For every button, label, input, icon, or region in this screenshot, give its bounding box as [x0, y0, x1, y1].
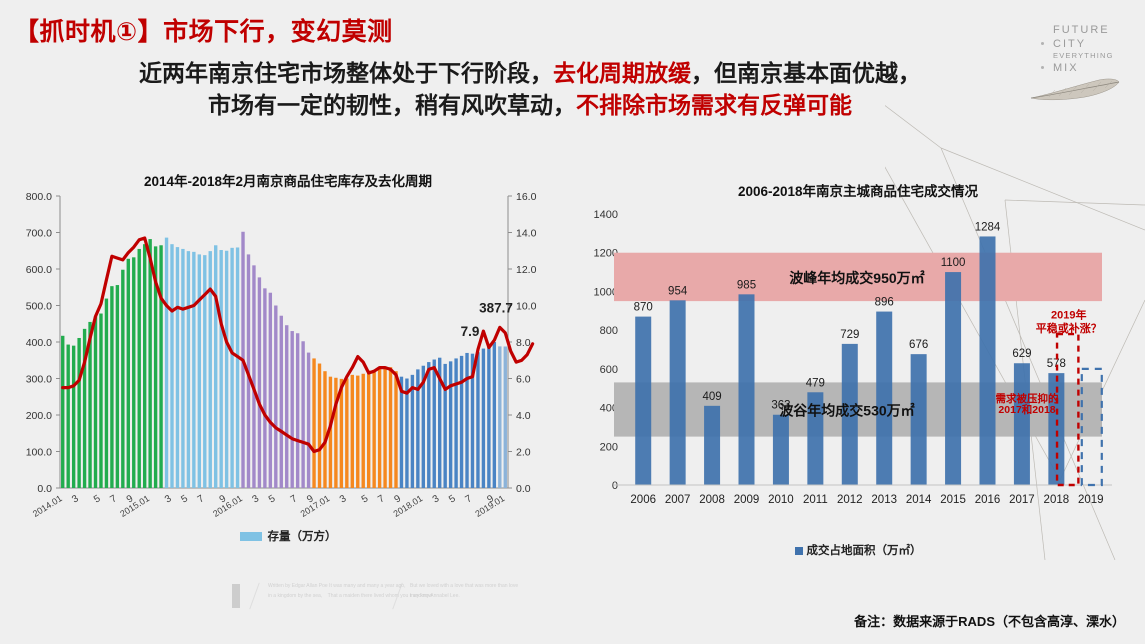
- svg-text:波谷年均成交530万㎡: 波谷年均成交530万㎡: [779, 403, 914, 419]
- svg-text:1400: 1400: [594, 209, 618, 221]
- svg-text:985: 985: [737, 279, 756, 291]
- svg-text:14.0: 14.0: [516, 228, 537, 240]
- brand-line-3: EVERYTHING: [1053, 51, 1114, 60]
- subtitle: 近两年南京住宅市场整体处于下行阶段，去化周期放缓，但南京基本面优越， 市场有一定…: [0, 58, 1060, 121]
- svg-text:2019: 2019: [1078, 494, 1104, 506]
- svg-text:16.0: 16.0: [516, 191, 537, 203]
- svg-text:5: 5: [92, 493, 103, 506]
- page-title: 【抓时机①】市场下行，变幻莫测: [14, 12, 393, 48]
- svg-text:平稳或补涨？: 平稳或补涨？: [1036, 321, 1102, 335]
- svg-text:600: 600: [600, 364, 618, 376]
- svg-text:0.0: 0.0: [516, 483, 531, 495]
- svg-text:363: 363: [771, 400, 790, 412]
- svg-text:5: 5: [360, 493, 371, 506]
- svg-text:3: 3: [431, 493, 442, 506]
- svg-text:2011: 2011: [803, 494, 828, 506]
- inventory-chart-plot: 0.0100.0200.0300.0400.0500.0600.0700.080…: [8, 188, 568, 538]
- svg-text:3: 3: [70, 493, 81, 506]
- svg-text:7: 7: [289, 493, 300, 506]
- svg-text:2018: 2018: [1044, 494, 1070, 506]
- subtitle-text-2a: 市场有一定的韧性，稍有风吹草动，: [208, 92, 576, 118]
- svg-text:100.0: 100.0: [26, 447, 52, 459]
- svg-text:2015: 2015: [940, 494, 966, 506]
- slide: 【抓时机①】市场下行，变幻莫测 近两年南京住宅市场整体处于下行阶段，去化周期放缓…: [0, 0, 1145, 644]
- svg-text:1284: 1284: [975, 221, 1001, 233]
- brand-dot-icon: [1041, 66, 1044, 69]
- svg-text:7: 7: [464, 493, 475, 506]
- svg-text:3: 3: [338, 493, 349, 506]
- inventory-chart-legend: 存量（万方）: [8, 528, 568, 544]
- transactions-chart: 2006-2018年南京主城商品住宅成交情况 02004006008001000…: [578, 180, 1138, 565]
- svg-text:0.0: 0.0: [37, 483, 52, 495]
- svg-text:2.0: 2.0: [516, 447, 531, 459]
- source-note: 备注：数据来源于RADS（不包含高淳、溧水）: [854, 611, 1125, 630]
- svg-text:2015.01: 2015.01: [118, 493, 151, 519]
- brand-dot-icon: [1041, 42, 1044, 45]
- svg-text:需求被压抑的: 需求被压抑的: [996, 392, 1059, 405]
- svg-text:2014.01: 2014.01: [31, 493, 64, 519]
- svg-text:2014: 2014: [906, 494, 932, 506]
- svg-text:2007: 2007: [665, 494, 691, 506]
- svg-text:676: 676: [909, 339, 928, 351]
- quote-divider: [249, 583, 260, 610]
- quote-bar: [232, 584, 240, 608]
- svg-text:2016: 2016: [975, 494, 1001, 506]
- svg-text:870: 870: [634, 302, 653, 314]
- svg-text:387.7: 387.7: [479, 300, 513, 315]
- svg-text:2017: 2017: [1009, 494, 1035, 506]
- brand-line-1: FUTURE: [1053, 24, 1110, 36]
- svg-text:2009: 2009: [734, 494, 760, 506]
- svg-text:409: 409: [702, 391, 721, 403]
- svg-text:400.0: 400.0: [26, 337, 52, 349]
- svg-text:5: 5: [179, 493, 190, 506]
- svg-text:2008: 2008: [699, 494, 725, 506]
- svg-text:600.0: 600.0: [26, 264, 52, 276]
- inventory-chart-title: 2014年-2018年2月南京商品住宅库存及去化周期: [8, 170, 568, 190]
- svg-text:12.0: 12.0: [516, 264, 537, 276]
- subtitle-text-1b: ，但南京基本面优越，: [691, 60, 921, 86]
- svg-text:2019年: 2019年: [1051, 308, 1086, 322]
- quote-text-1: Written by Edgar Allan Poe It was many a…: [268, 582, 432, 601]
- brand-line-2: CITY: [1053, 38, 1086, 50]
- svg-text:2017和2018: 2017和2018: [998, 403, 1055, 416]
- svg-text:479: 479: [806, 377, 825, 389]
- subtitle-highlight-2: 不排除市场需求有反弹可能: [576, 92, 852, 118]
- svg-text:2012: 2012: [837, 494, 863, 506]
- svg-text:2013: 2013: [871, 494, 897, 506]
- svg-text:800: 800: [600, 325, 618, 337]
- legend-swatch-icon: [795, 547, 803, 555]
- transactions-chart-title: 2006-2018年南京主城商品住宅成交情况: [578, 180, 1138, 200]
- svg-text:3: 3: [163, 493, 174, 506]
- inventory-chart: 2014年-2018年2月南京商品住宅库存及去化周期 0.0100.0200.0…: [8, 170, 568, 560]
- svg-text:2010: 2010: [768, 494, 794, 506]
- svg-text:8.0: 8.0: [516, 337, 531, 349]
- svg-text:7.9: 7.9: [461, 324, 480, 339]
- svg-text:2017.01: 2017.01: [299, 493, 332, 519]
- brand-logo: FUTURE CITY EVERYTHING MIX: [1025, 24, 1125, 96]
- feather-icon: [1029, 76, 1121, 102]
- svg-text:954: 954: [668, 285, 688, 297]
- svg-text:7: 7: [376, 493, 387, 506]
- decorative-quote-watermark: Written by Edgar Allan Poe It was many a…: [232, 580, 632, 616]
- subtitle-highlight-1: 去化周期放缓: [553, 60, 691, 86]
- legend-label: 存量（万方）: [268, 531, 337, 543]
- subtitle-text-1a: 近两年南京住宅市场整体处于下行阶段，: [139, 60, 553, 86]
- svg-text:10.0: 10.0: [516, 301, 537, 313]
- brand-line-4: MIX: [1053, 62, 1079, 74]
- svg-text:500.0: 500.0: [26, 301, 52, 313]
- svg-text:896: 896: [875, 297, 894, 309]
- subtitle-line-1: 近两年南京住宅市场整体处于下行阶段，去化周期放缓，但南京基本面优越，: [0, 58, 1060, 90]
- svg-text:200.0: 200.0: [26, 410, 52, 422]
- svg-text:729: 729: [840, 329, 859, 341]
- svg-text:0: 0: [612, 480, 618, 492]
- svg-text:2016.01: 2016.01: [211, 493, 244, 519]
- transactions-chart-legend: 成交占地面积（万㎡）: [578, 542, 1138, 558]
- svg-text:300.0: 300.0: [26, 374, 52, 386]
- svg-text:3: 3: [250, 493, 261, 506]
- svg-text:6.0: 6.0: [516, 374, 531, 386]
- quote-text-2: But we loved with a love that was more t…: [410, 582, 518, 601]
- svg-text:波峰年均成交950万㎡: 波峰年均成交950万㎡: [789, 270, 924, 286]
- svg-text:5: 5: [267, 493, 278, 506]
- legend-label: 成交占地面积（万㎡）: [807, 545, 922, 557]
- transactions-chart-plot: 0200400600800100012001400波峰年均成交950万㎡波谷年均…: [578, 200, 1138, 540]
- svg-text:2006: 2006: [630, 494, 656, 506]
- svg-text:200: 200: [600, 441, 618, 453]
- svg-text:5: 5: [447, 493, 458, 506]
- svg-text:7: 7: [196, 493, 207, 506]
- svg-text:700.0: 700.0: [26, 228, 52, 240]
- subtitle-line-2: 市场有一定的韧性，稍有风吹草动，不排除市场需求有反弹可能: [0, 90, 1060, 122]
- svg-text:800.0: 800.0: [26, 191, 52, 203]
- svg-text:7: 7: [108, 493, 119, 506]
- svg-text:629: 629: [1012, 348, 1031, 360]
- svg-text:1100: 1100: [941, 257, 966, 269]
- legend-swatch-icon: [240, 532, 262, 541]
- svg-text:4.0: 4.0: [516, 410, 531, 422]
